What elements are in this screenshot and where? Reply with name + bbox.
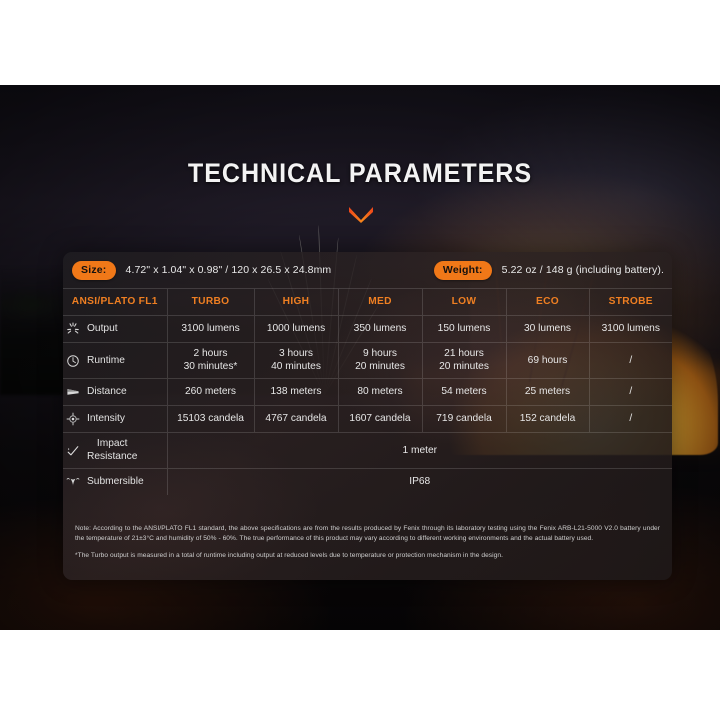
drop-check-icon	[65, 443, 81, 459]
column-header-eco: ECO	[506, 289, 589, 316]
column-header-turbo: TURBO	[167, 289, 254, 316]
cell-intensity-med: 1607 candela	[338, 406, 422, 433]
cell-runtime-eco: 69 hours	[506, 343, 589, 379]
table-row: Runtime 2 hours30 minutes* 3 hours40 min…	[63, 343, 672, 379]
row-label-distance: Distance	[63, 379, 167, 406]
cell-submersible-value: IP68	[167, 469, 672, 496]
cell-intensity-eco: 152 candela	[506, 406, 589, 433]
cell-runtime-low: 21 hours20 minutes	[422, 343, 506, 379]
weight-value: 5.22 oz / 148 g (including battery).	[502, 264, 664, 276]
cell-distance-low: 54 meters	[422, 379, 506, 406]
column-header-standard: ANSI/PLATO FL1	[63, 289, 167, 316]
cell-distance-eco: 25 meters	[506, 379, 589, 406]
row-label-impact-resistance: ImpactResistance	[63, 433, 167, 469]
weight-label: Weight:	[434, 261, 492, 280]
crosshair-icon	[65, 411, 81, 427]
size-label: Size:	[72, 261, 116, 280]
cell-distance-med: 80 meters	[338, 379, 422, 406]
row-label-output: Output	[63, 316, 167, 343]
table-row: Output 3100 lumens 1000 lumens 350 lumen…	[63, 316, 672, 343]
cell-output-turbo: 3100 lumens	[167, 316, 254, 343]
footnote-note: Note: According to the ANSI/PLATO FL1 st…	[75, 524, 660, 544]
row-label-intensity: Intensity	[63, 406, 167, 433]
footnote-asterisk: *The Turbo output is measured in a total…	[75, 551, 660, 561]
cell-impact-resistance-value: 1 meter	[167, 433, 672, 469]
spec-panel: Size: 4.72" x 1.04" x 0.98" / 120 x 26.5…	[63, 252, 672, 580]
table-row: ImpactResistance 1 meter	[63, 433, 672, 469]
clock-icon	[65, 353, 81, 369]
table-row: Distance 260 meters 138 meters 80 meters…	[63, 379, 672, 406]
cell-output-low: 150 lumens	[422, 316, 506, 343]
size-value: 4.72" x 1.04" x 0.98" / 120 x 26.5 x 24.…	[126, 264, 332, 276]
table-body: Output 3100 lumens 1000 lumens 350 lumen…	[63, 316, 672, 495]
cell-runtime-high: 3 hours40 minutes	[254, 343, 338, 379]
cell-intensity-turbo: 15103 candela	[167, 406, 254, 433]
cell-output-high: 1000 lumens	[254, 316, 338, 343]
cell-runtime-med: 9 hours20 minutes	[338, 343, 422, 379]
water-splash-icon	[65, 474, 81, 490]
row-label-text: Submersible	[87, 476, 144, 488]
column-header-strobe: STROBE	[589, 289, 672, 316]
row-label-text: Distance	[87, 386, 127, 398]
cell-distance-strobe: /	[589, 379, 672, 406]
row-label-text: Runtime	[87, 355, 125, 367]
chevron-down-icon	[348, 205, 374, 223]
cell-output-med: 350 lumens	[338, 316, 422, 343]
cell-runtime-turbo: 2 hours30 minutes*	[167, 343, 254, 379]
footnote-block: Note: According to the ANSI/PLATO FL1 st…	[63, 524, 672, 561]
cell-output-strobe: 3100 lumens	[589, 316, 672, 343]
row-label-submersible: Submersible	[63, 469, 167, 496]
page-root: TECHNICAL PARAMETERS Size: 4.72" x 1.04"…	[0, 0, 720, 720]
table-row: Submersible IP68	[63, 469, 672, 496]
column-header-low: LOW	[422, 289, 506, 316]
cell-distance-turbo: 260 meters	[167, 379, 254, 406]
row-label-text: Intensity	[87, 413, 125, 425]
table-header-row: ANSI/PLATO FL1 TURBO HIGH MED LOW ECO ST…	[63, 289, 672, 316]
beam-icon	[65, 384, 81, 400]
page-title: TECHNICAL PARAMETERS	[25, 158, 695, 189]
cell-output-eco: 30 lumens	[506, 316, 589, 343]
specifications-table: ANSI/PLATO FL1 TURBO HIGH MED LOW ECO ST…	[63, 288, 672, 495]
row-label-text: Output	[87, 323, 118, 335]
column-header-med: MED	[338, 289, 422, 316]
cell-intensity-high: 4767 candela	[254, 406, 338, 433]
cell-distance-high: 138 meters	[254, 379, 338, 406]
cell-intensity-strobe: /	[589, 406, 672, 433]
row-label-text: ImpactResistance	[87, 438, 137, 463]
row-label-runtime: Runtime	[63, 343, 167, 379]
cell-runtime-strobe: /	[589, 343, 672, 379]
column-header-high: HIGH	[254, 289, 338, 316]
table-row: Intensity 15103 candela 4767 candela 160…	[63, 406, 672, 433]
panel-topbar: Size: 4.72" x 1.04" x 0.98" / 120 x 26.5…	[63, 252, 672, 288]
cell-intensity-low: 719 candela	[422, 406, 506, 433]
light-burst-icon	[65, 321, 81, 337]
